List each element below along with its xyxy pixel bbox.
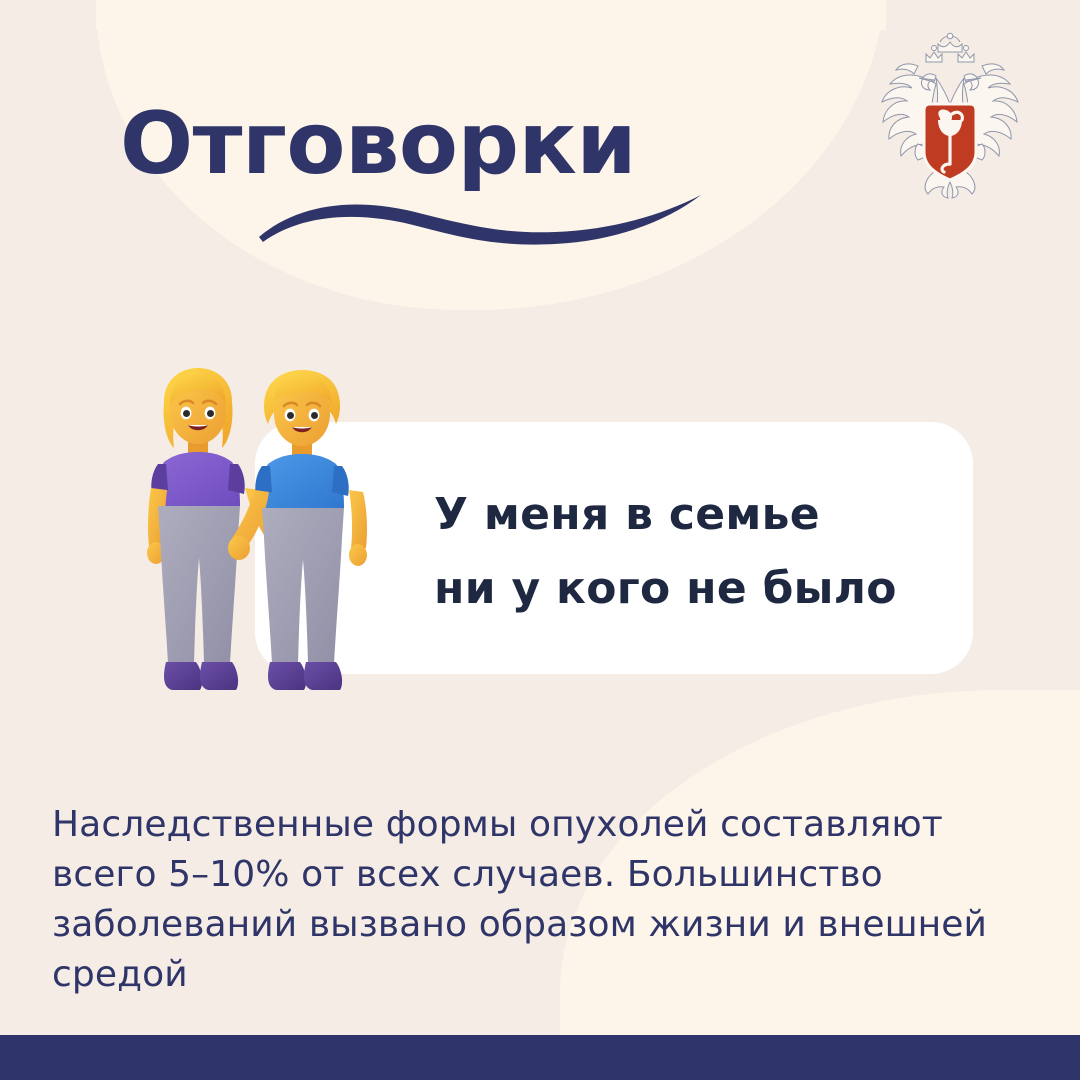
title-block: Отговорки: [120, 96, 760, 266]
figure-woman: [147, 368, 280, 690]
quote-line-2: ни у кого не было: [434, 563, 897, 614]
swoosh-underline-icon: [255, 188, 705, 246]
quote-text: У меня в семьени у кого не было: [434, 478, 954, 626]
quote-line-1: У меня в семье: [434, 489, 820, 540]
couple-holding-hands-illustration: [138, 366, 390, 710]
page-title: Отговорки: [120, 96, 760, 192]
background-blob-top-fill: [96, 0, 886, 30]
body-paragraph: Наследственные формы опухолей составляют…: [52, 800, 1042, 1000]
russian-ministry-of-health-emblem: [874, 32, 1026, 200]
figure-man: [228, 370, 367, 690]
poster-canvas: Отговорки: [0, 0, 1080, 1080]
footer-bar: [0, 1035, 1080, 1080]
